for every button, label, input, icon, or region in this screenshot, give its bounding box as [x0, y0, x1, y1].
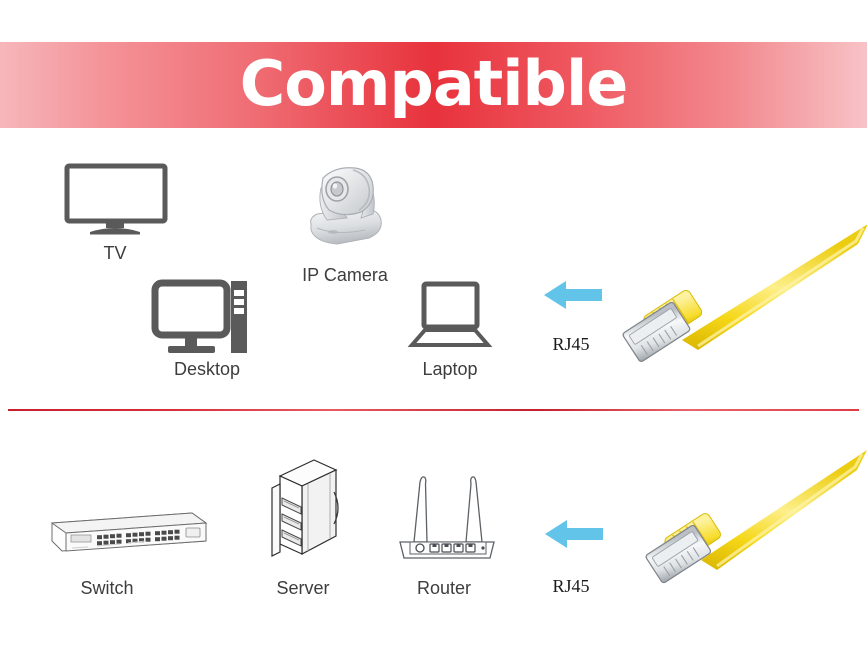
server-label: Server [253, 578, 353, 599]
server-rack-icon [268, 458, 340, 564]
rj45-label-bottom: RJ45 [525, 576, 617, 597]
wifi-router-icon [396, 466, 498, 562]
laptop-label: Laptop [400, 359, 500, 380]
ethernet-cable-icon [645, 448, 867, 613]
arrow-left-icon [544, 279, 602, 311]
header-banner: Compatible [0, 42, 867, 128]
laptop-icon [411, 282, 489, 348]
page-title: Compatible [0, 42, 867, 128]
ip-camera-label: IP Camera [283, 265, 407, 286]
desktop-label: Desktop [152, 359, 262, 380]
tv-label: TV [65, 243, 165, 264]
switch-label: Switch [57, 578, 157, 599]
rj45-label-top: RJ45 [525, 334, 617, 355]
tv-icon [64, 163, 168, 235]
router-label: Router [394, 578, 494, 599]
ip-camera-icon [303, 162, 387, 252]
ethernet-cable-icon [620, 222, 867, 392]
compatibility-diagram: Compatible TV [0, 0, 867, 650]
network-switch-icon [42, 505, 208, 560]
arrow-left-icon [545, 518, 603, 550]
desktop-icon [152, 280, 247, 358]
section-divider [8, 409, 859, 411]
